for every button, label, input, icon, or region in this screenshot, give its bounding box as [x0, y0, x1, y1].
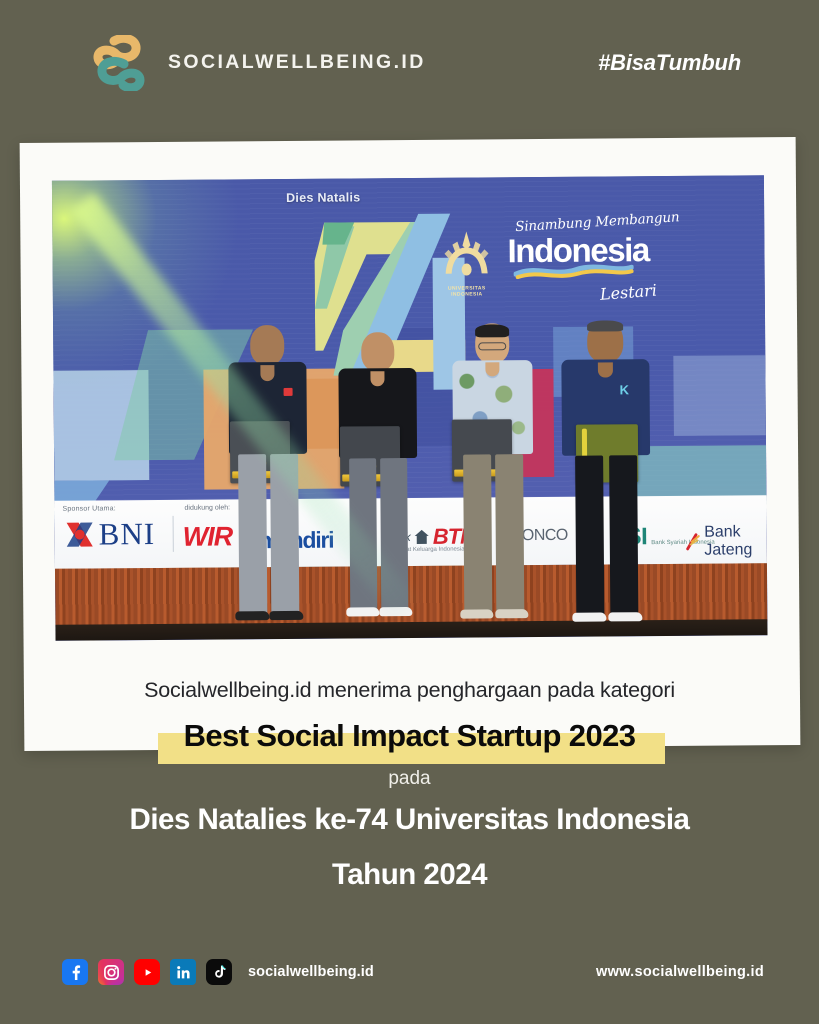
footer-social-group: socialwellbeing.id: [62, 959, 374, 985]
caption-intro-line: Socialwellbeing.id menerima penghargaan …: [0, 678, 819, 703]
footer-website-url[interactable]: www.socialwellbeing.id: [596, 964, 764, 980]
recipient-4-leg-left: [575, 455, 604, 615]
recipient-2-shoe-right: [379, 607, 412, 616]
bni-mark-icon: [65, 520, 95, 548]
recipient-3-legs: [456, 454, 531, 613]
recipient-2-shoe-left: [346, 607, 379, 616]
sponsor-logo-bank-jateng: Bank Jateng: [685, 523, 767, 560]
polaroid-card: Dies Natalis UNIVERSITAS INDONESIA: [20, 137, 801, 751]
recipient-1: [221, 325, 315, 626]
recipient-4-hair: [587, 320, 623, 331]
youtube-icon[interactable]: [134, 959, 160, 985]
recipient-2-neck: [370, 371, 384, 386]
recipient-1-legs: [232, 454, 305, 615]
event-photo: Dies Natalis UNIVERSITAS INDONESIA: [52, 175, 768, 641]
instagram-glyph: [103, 964, 120, 981]
award-headline: Best Social Impact Startup 2023: [0, 718, 819, 754]
recipient-3-shoe-left: [460, 609, 493, 618]
recipient-2: [331, 332, 425, 625]
recipient-2-legs: [342, 458, 415, 611]
youtube-glyph: [140, 965, 155, 980]
recipient-3: [445, 323, 541, 624]
social-icon-list: [62, 959, 232, 985]
recipient-3-head: [475, 323, 509, 363]
recipient-4: K: [555, 320, 657, 623]
recipient-1-leg-right: [270, 454, 299, 614]
recipient-1-leg-left: [238, 454, 267, 614]
interlocking-loops-logo: [92, 35, 146, 91]
universitas-indonesia-seal: UNIVERSITAS INDONESIA: [437, 227, 496, 299]
caption-event-line: Dies Natalies ke-74 Universitas Indonesi…: [0, 803, 819, 837]
hashtag-tagline: #BisaTumbuh: [598, 50, 741, 76]
recipient-2-leg-right: [380, 458, 408, 610]
footer-handle[interactable]: socialwellbeing.id: [248, 964, 374, 980]
facebook-glyph: [67, 964, 83, 980]
sponsor-divider: [173, 516, 174, 552]
brand-name: SOCIALWELLBEING.ID: [168, 51, 426, 74]
recipient-1-chest-badge: [284, 388, 293, 396]
recipient-4-legs: [567, 455, 646, 616]
linkedin-glyph: [175, 964, 192, 981]
recipient-4-neck: [598, 362, 613, 377]
tagline-lestari: Lestari: [599, 277, 698, 304]
ui-makara-icon: [437, 227, 495, 279]
bank-jateng-mark-icon: [685, 530, 701, 554]
recipient-1-neck: [260, 365, 274, 381]
recipient-3-neck: [485, 362, 499, 376]
page-header: SOCIALWELLBEING.ID #BisaTumbuh: [0, 0, 819, 125]
page-footer: socialwellbeing.id www.socialwellbeing.i…: [0, 938, 819, 1024]
linkedin-icon[interactable]: [170, 959, 196, 985]
seal-name: UNIVERSITAS INDONESIA: [438, 285, 496, 298]
recipient-3-leg-left: [463, 454, 492, 612]
instagram-icon[interactable]: [98, 959, 124, 985]
tagline-indonesia: Indonesia: [507, 235, 697, 266]
recipient-2-leg-left: [349, 458, 377, 610]
recipient-1-shoe-left: [235, 611, 269, 620]
caption-year-line: Tahun 2024: [0, 858, 819, 892]
recipient-4-shoe-right: [608, 612, 642, 621]
brand-lockup: SOCIALWELLBEING.ID: [92, 35, 426, 91]
caption-connector: pada: [0, 768, 819, 790]
sdg-wave-icon: [514, 264, 634, 279]
indonesia-lestari-lockup: Sinambung Membangun Indonesia Lestari: [507, 218, 698, 314]
sponsor-utama-label: Sponsor Utama:: [62, 505, 115, 512]
sponsor-logo-bni: BNI: [65, 518, 156, 550]
recipient-2-head: [361, 332, 394, 371]
recipient-1-shoe-right: [269, 611, 303, 620]
tiktok-icon[interactable]: [206, 959, 232, 985]
bni-wordmark: BNI: [99, 518, 156, 549]
recipient-4-head: [587, 320, 623, 362]
tiktok-glyph: [212, 964, 227, 980]
recipient-3-glasses-icon: [478, 342, 506, 350]
recipient-4-shoe-left: [572, 612, 606, 621]
recipient-4-chest-logo-icon: K: [620, 383, 635, 396]
dies-natalis-label: Dies Natalis: [286, 190, 361, 205]
recipient-1-head: [250, 325, 284, 365]
recipient-4-leg-right: [609, 455, 638, 615]
recipient-3-shoe-right: [495, 609, 528, 618]
bank-jateng-wordmark: Bank Jateng: [704, 523, 767, 559]
recipient-3-leg-right: [495, 454, 524, 612]
seal-name-line2: INDONESIA: [451, 292, 482, 298]
facebook-icon[interactable]: [62, 959, 88, 985]
recipient-3-hair: [475, 324, 509, 337]
